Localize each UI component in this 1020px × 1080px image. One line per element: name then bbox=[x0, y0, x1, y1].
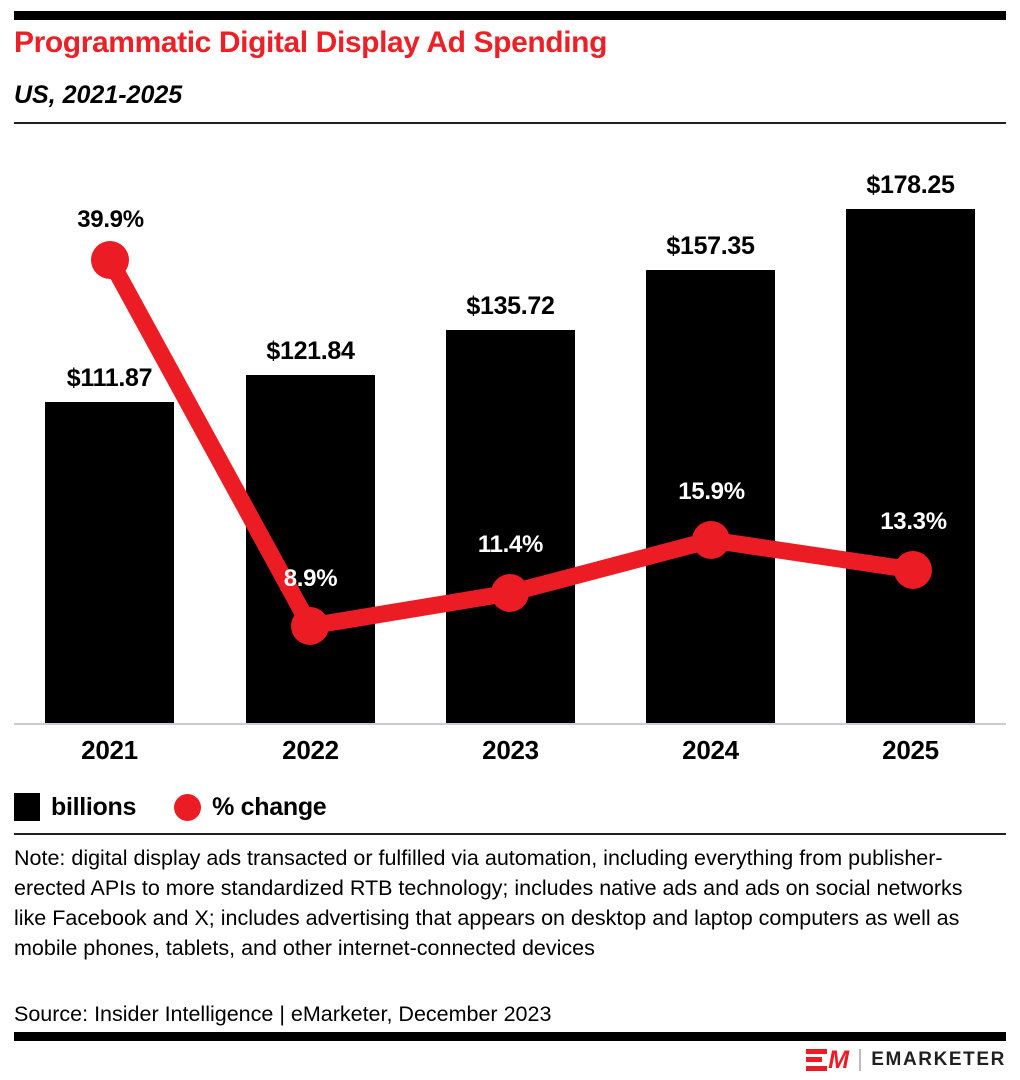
pct-label-2023: 11.4% bbox=[446, 531, 575, 559]
x-tick-2024: 2024 bbox=[646, 735, 775, 766]
line-marker-2021 bbox=[91, 241, 129, 279]
x-tick-2025: 2025 bbox=[846, 735, 975, 766]
chart-legend: billions % change bbox=[14, 792, 364, 822]
top-rule bbox=[14, 11, 1006, 20]
x-tick-2021: 2021 bbox=[45, 735, 174, 766]
logo-divider bbox=[859, 1049, 861, 1071]
page-subtitle: US, 2021-2025 bbox=[14, 80, 994, 110]
pct-label-2024: 15.9% bbox=[647, 478, 776, 506]
line-marker-2023 bbox=[491, 574, 529, 612]
bottom-rule bbox=[14, 1032, 1006, 1041]
header-rule bbox=[14, 122, 1006, 124]
legend-rule bbox=[14, 833, 1006, 835]
line-marker-2024 bbox=[692, 521, 730, 559]
pct-label-2025: 13.3% bbox=[849, 508, 978, 536]
legend-label-percent-change: % change bbox=[212, 793, 326, 822]
emarketer-logo: M EMARKETER bbox=[806, 1047, 1006, 1073]
x-tick-2023: 2023 bbox=[446, 735, 575, 766]
legend-item-billions: billions bbox=[14, 793, 136, 822]
pct-label-2021: 39.9% bbox=[46, 206, 175, 234]
em-mark-icon: M bbox=[806, 1049, 850, 1071]
line-path bbox=[110, 260, 913, 626]
line-marker-2025 bbox=[894, 551, 932, 589]
page-title: Programmatic Digital Display Ad Spending bbox=[14, 25, 994, 61]
chart-source: Source: Insider Intelligence | eMarketer… bbox=[14, 1000, 989, 1028]
legend-item-percent-change: % change bbox=[174, 793, 326, 822]
pct-label-2022: 8.9% bbox=[246, 565, 375, 593]
red-circle-icon bbox=[174, 794, 201, 821]
legend-label-billions: billions bbox=[51, 793, 136, 822]
chart-note: Note: digital display ads transacted or … bbox=[14, 843, 989, 963]
black-square-icon bbox=[14, 793, 40, 821]
line-marker-2022 bbox=[291, 607, 329, 645]
x-tick-2022: 2022 bbox=[246, 735, 375, 766]
logo-wordmark: EMARKETER bbox=[871, 1049, 1006, 1071]
chart-plot-area: $111.87 $121.84 $135.72 $157.35 $178.25 … bbox=[0, 140, 1020, 730]
chart-page: Programmatic Digital Display Ad Spending… bbox=[0, 0, 1020, 1080]
